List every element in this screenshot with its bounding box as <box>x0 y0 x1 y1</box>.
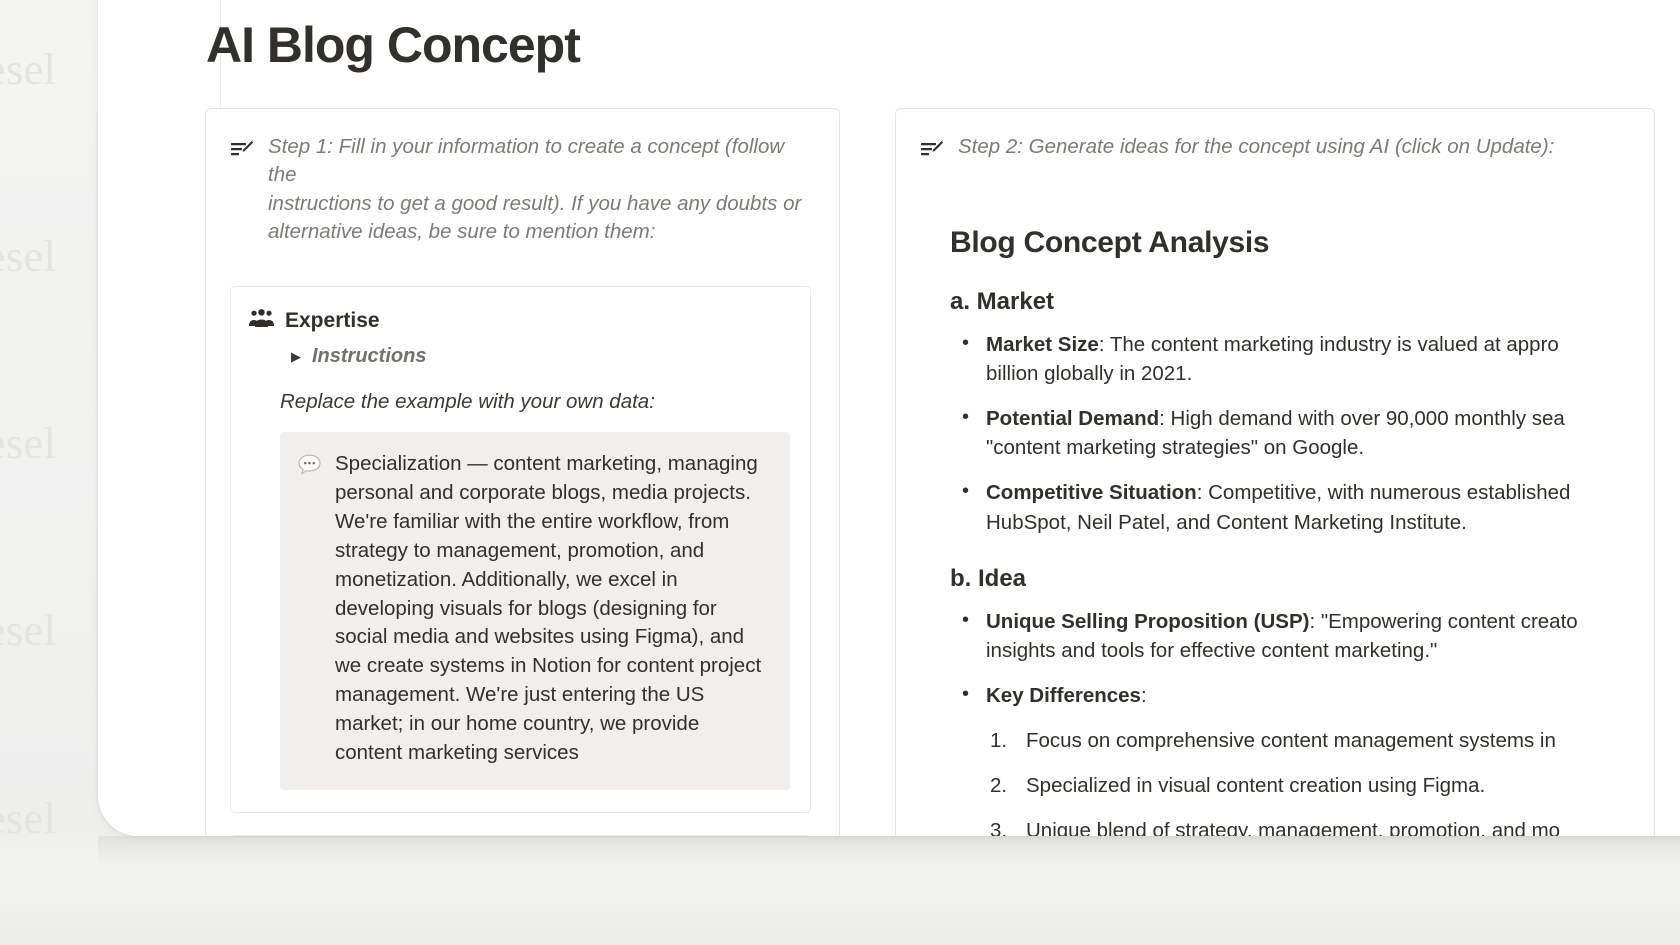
list-item: Market Size: The content marketing indus… <box>950 330 1655 388</box>
analysis-section-heading-idea: b. Idea <box>950 565 1655 593</box>
bullet-line-1: : "Empowering content creato <box>1309 610 1577 633</box>
analysis-heading: Blog Concept Analysis <box>950 226 1655 260</box>
step-1-header: Step 1: Fill in your information to crea… <box>230 133 811 246</box>
bullet-label: Key Differences <box>986 684 1141 707</box>
people-group-icon <box>249 309 274 333</box>
bullet-line-2: "content marketing strategies" on Google… <box>986 433 1655 462</box>
speech-bubble-icon <box>298 454 321 480</box>
market-bullet-list: Market Size: The content marketing indus… <box>950 330 1655 537</box>
instructions-toggle-label[interactable]: Instructions <box>312 345 426 368</box>
instructions-toggle[interactable]: ▶ Instructions <box>291 345 790 368</box>
bullet-line-2: insights and tools for effective content… <box>986 636 1655 665</box>
bullet-label: Competitive Situation <box>986 481 1197 504</box>
chevron-right-icon[interactable]: ▶ <box>291 350 301 363</box>
page-title: AI Blog Concept <box>206 18 580 72</box>
step-2-header: Step 2: Generate ideas for the concept u… <box>920 133 1654 168</box>
note-edit-icon <box>920 139 944 168</box>
bullet-line-1: : Competitive, with numerous established <box>1197 481 1571 504</box>
watermark-text: esel <box>0 231 56 282</box>
expertise-callout-text: Specialization — content marketing, mana… <box>335 450 767 768</box>
replace-example-note: Replace the example with your own data: <box>280 390 790 414</box>
expertise-header: Expertise <box>249 309 790 333</box>
watermark-text: esel <box>0 44 56 95</box>
bullet-line-2: billion globally in 2021. <box>986 359 1655 388</box>
bullet-line-1: : The content marketing industry is valu… <box>1099 333 1559 356</box>
bullet-line-2: HubSpot, Neil Patel, and Content Marketi… <box>986 508 1655 537</box>
analysis-section-heading-market: a. Market <box>950 288 1655 316</box>
key-differences-list: Focus on comprehensive content managemen… <box>950 726 1655 836</box>
bullet-label: Potential Demand <box>986 407 1159 430</box>
watermark-text: esel <box>0 605 56 656</box>
idea-bullet-list: Unique Selling Proposition (USP): "Empow… <box>950 607 1655 710</box>
list-item: Focus on comprehensive content managemen… <box>990 726 1655 755</box>
step-2-card: Step 2: Generate ideas for the concept u… <box>895 108 1655 836</box>
bullet-line-1: : High demand with over 90,000 monthly s… <box>1159 407 1565 430</box>
blog-concept-analysis: Blog Concept Analysis a. Market Market S… <box>920 226 1655 836</box>
step-2-instruction: Step 2: Generate ideas for the concept u… <box>958 133 1554 161</box>
bullet-label: Unique Selling Proposition (USP) <box>986 610 1309 633</box>
app-root: esel esel esel esel esel AI Blog Concept <box>0 0 1680 945</box>
expertise-callout[interactable]: Specialization — content marketing, mana… <box>280 432 790 790</box>
note-edit-icon <box>230 139 254 168</box>
list-item: Specialized in visual content creation u… <box>990 771 1655 800</box>
products-block: Products <box>230 835 811 836</box>
list-item: Unique Selling Proposition (USP): "Empow… <box>950 607 1655 665</box>
steps-columns: Step 1: Fill in your information to crea… <box>205 108 1680 836</box>
page-footer-area <box>0 836 1680 945</box>
document-sheet: AI Blog Concept <box>98 0 1680 836</box>
step-1-card: Step 1: Fill in your information to crea… <box>205 108 840 836</box>
list-item: Competitive Situation: Competitive, with… <box>950 478 1655 536</box>
watermark-strip: esel esel esel esel esel <box>0 0 100 945</box>
list-item: Unique blend of strategy, management, pr… <box>990 816 1655 836</box>
expertise-title: Expertise <box>285 309 380 333</box>
step-1-instruction: Step 1: Fill in your information to crea… <box>268 133 811 246</box>
bullet-line-1: : <box>1141 684 1147 707</box>
list-item: Key Differences: <box>950 681 1655 710</box>
expertise-block: Expertise ▶ Instructions Replace the exa… <box>230 286 811 813</box>
watermark-text: esel <box>0 418 56 469</box>
bullet-label: Market Size <box>986 333 1099 356</box>
list-item: Potential Demand: High demand with over … <box>950 404 1655 462</box>
